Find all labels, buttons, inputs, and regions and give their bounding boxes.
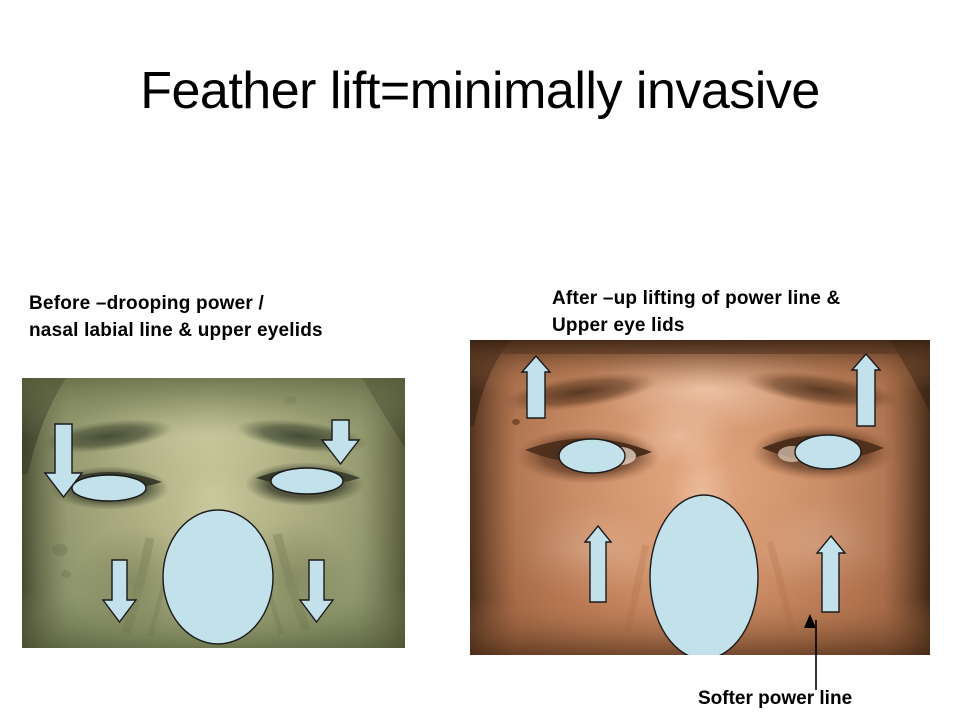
page-title: Feather lift=minimally invasive	[0, 62, 960, 120]
caption-before-line-1: Before –drooping power /	[29, 290, 429, 317]
caption-after: After –up lifting of power line & Upper …	[552, 285, 952, 339]
eye-redaction-ellipse	[271, 468, 343, 494]
eye-redaction-ellipse	[559, 439, 625, 473]
pointer-label-softer-power-line: Softer power line	[698, 688, 852, 710]
eye-redaction-ellipse	[795, 435, 861, 469]
before-photo	[22, 378, 405, 648]
center-redaction-ellipse	[163, 510, 273, 644]
caption-after-line-2: Upper eye lids	[552, 312, 952, 339]
center-redaction-ellipse	[650, 495, 758, 655]
after-photo	[470, 340, 930, 655]
softer-power-line-pointer	[790, 612, 820, 690]
caption-before-line-2: nasal labial line & upper eyelids	[29, 317, 429, 344]
caption-after-line-1: After –up lifting of power line &	[552, 285, 952, 312]
eye-redaction-ellipse	[72, 475, 146, 501]
caption-before: Before –drooping power / nasal labial li…	[29, 290, 429, 344]
